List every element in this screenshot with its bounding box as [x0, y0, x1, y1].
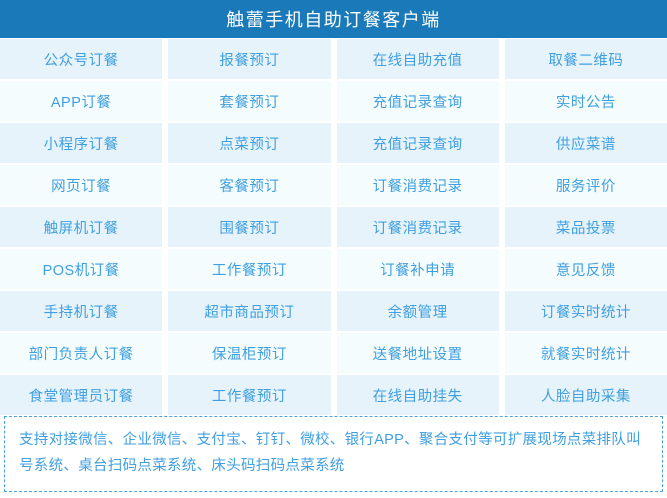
feature-cell[interactable]: 点菜预订 — [168, 123, 330, 163]
feature-cell[interactable]: 触屏机订餐 — [0, 207, 162, 247]
footer-note-box: 支持对接微信、企业微信、支付宝、钉钉、微校、银行APP、聚合支付等可扩展现场点菜… — [4, 416, 663, 492]
feature-cell[interactable]: 小程序订餐 — [0, 123, 162, 163]
footer-note-text: 支持对接微信、企业微信、支付宝、钉钉、微校、银行APP、聚合支付等可扩展现场点菜… — [19, 427, 648, 479]
feature-cell[interactable]: 手持机订餐 — [0, 291, 162, 331]
feature-cell[interactable]: 服务评价 — [505, 165, 667, 205]
feature-cell[interactable]: 意见反馈 — [505, 249, 667, 289]
panel-header: 触蕾手机自助订餐客户端 — [0, 0, 667, 38]
feature-cell[interactable]: 在线自助挂失 — [337, 375, 499, 415]
feature-cell[interactable]: 菜品投票 — [505, 207, 667, 247]
feature-cell[interactable]: 取餐二维码 — [505, 39, 667, 79]
feature-cell[interactable]: 订餐消费记录 — [337, 207, 499, 247]
feature-cell[interactable]: 余额管理 — [337, 291, 499, 331]
feature-cell[interactable]: 在线自助充值 — [337, 39, 499, 79]
self-service-ordering-client-panel: 触蕾手机自助订餐客户端 公众号订餐报餐预订在线自助充值取餐二维码APP订餐套餐预… — [0, 0, 667, 498]
feature-cell[interactable]: 网页订餐 — [0, 165, 162, 205]
feature-cell[interactable]: 工作餐预订 — [168, 249, 330, 289]
feature-cell[interactable]: 套餐预订 — [168, 81, 330, 121]
feature-cell[interactable]: 供应菜谱 — [505, 123, 667, 163]
feature-cell[interactable]: 公众号订餐 — [0, 39, 162, 79]
feature-cell[interactable]: 报餐预订 — [168, 39, 330, 79]
feature-cell[interactable]: 超市商品预订 — [168, 291, 330, 331]
feature-cell[interactable]: 工作餐预订 — [168, 375, 330, 415]
feature-cell[interactable]: 就餐实时统计 — [505, 333, 667, 373]
feature-cell[interactable]: 食堂管理员订餐 — [0, 375, 162, 415]
feature-cell[interactable]: 订餐实时统计 — [505, 291, 667, 331]
feature-grid: 公众号订餐报餐预订在线自助充值取餐二维码APP订餐套餐预订充值记录查询实时公告小… — [0, 39, 667, 415]
feature-cell[interactable]: 客餐预订 — [168, 165, 330, 205]
feature-cell[interactable]: POS机订餐 — [0, 249, 162, 289]
feature-cell[interactable]: 实时公告 — [505, 81, 667, 121]
feature-cell[interactable]: 人脸自助采集 — [505, 375, 667, 415]
feature-cell[interactable]: 充值记录查询 — [337, 123, 499, 163]
feature-cell[interactable]: 订餐消费记录 — [337, 165, 499, 205]
feature-cell[interactable]: 围餐预订 — [168, 207, 330, 247]
feature-cell[interactable]: 送餐地址设置 — [337, 333, 499, 373]
feature-cell[interactable]: 充值记录查询 — [337, 81, 499, 121]
page-title: 触蕾手机自助订餐客户端 — [226, 6, 441, 32]
feature-cell[interactable]: APP订餐 — [0, 81, 162, 121]
feature-cell[interactable]: 保温柜预订 — [168, 333, 330, 373]
feature-cell[interactable]: 订餐补申请 — [337, 249, 499, 289]
feature-cell[interactable]: 部门负责人订餐 — [0, 333, 162, 373]
